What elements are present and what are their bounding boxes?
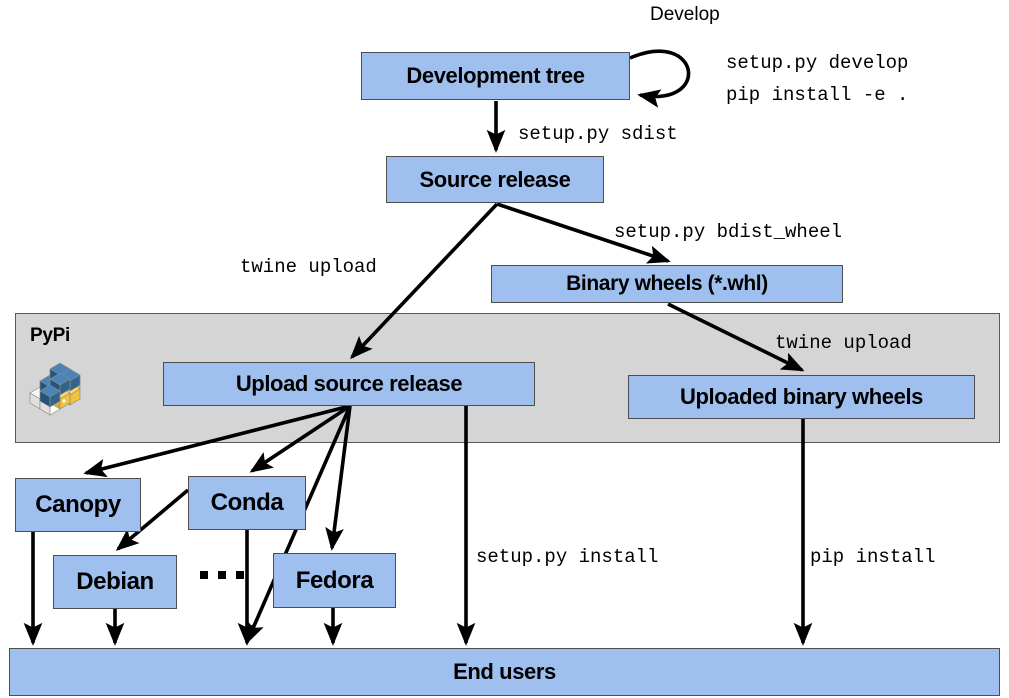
ellipsis-dots (200, 571, 244, 579)
edge-source-to-upload-source (352, 204, 497, 357)
edge-label-twine-upload-wheels: twine upload (775, 332, 912, 354)
node-fedora[interactable]: Fedora (273, 553, 396, 608)
edge-label-develop: Develop (650, 4, 720, 26)
node-label: Source release (420, 167, 571, 193)
node-development-tree[interactable]: Development tree (361, 52, 630, 100)
node-conda[interactable]: Conda (188, 476, 306, 530)
node-label: End users (453, 659, 556, 685)
edge-develop-self (630, 51, 689, 96)
node-binary-wheels[interactable]: Binary wheels (*.whl) (491, 265, 843, 303)
edge-upload-source-to-canopy (86, 406, 350, 473)
dot (218, 571, 226, 579)
node-label: Canopy (35, 491, 121, 519)
diagram-canvas: PyPi (0, 0, 1009, 698)
node-label: Uploaded binary wheels (680, 384, 923, 410)
node-label: Development tree (406, 63, 584, 89)
dot (236, 571, 244, 579)
edge-label-setup-sdist: setup.py sdist (518, 123, 678, 145)
node-debian[interactable]: Debian (53, 555, 177, 609)
edge-label-setup-bdist-wheel: setup.py bdist_wheel (614, 221, 842, 243)
edge-label-setup-install: setup.py install (476, 546, 658, 568)
node-label: Debian (76, 568, 154, 596)
node-upload-source-release[interactable]: Upload source release (163, 362, 535, 406)
node-uploaded-binary-wheels[interactable]: Uploaded binary wheels (628, 375, 975, 419)
node-source-release[interactable]: Source release (386, 156, 604, 203)
edge-label-twine-upload-source: twine upload (240, 256, 377, 278)
node-label: Conda (211, 489, 284, 517)
edge-label-setup-develop: setup.py develop (726, 52, 908, 74)
dot (200, 571, 208, 579)
node-canopy[interactable]: Canopy (15, 478, 141, 532)
edge-label-pip-install: pip install (810, 546, 935, 568)
pypi-logo-icon (26, 357, 88, 419)
node-label: Fedora (296, 567, 374, 595)
node-label: Upload source release (236, 371, 462, 397)
node-end-users[interactable]: End users (9, 648, 1000, 696)
edge-label-pip-install-editable: pip install -e . (726, 84, 908, 106)
node-label: Binary wheels (*.whl) (566, 272, 768, 296)
